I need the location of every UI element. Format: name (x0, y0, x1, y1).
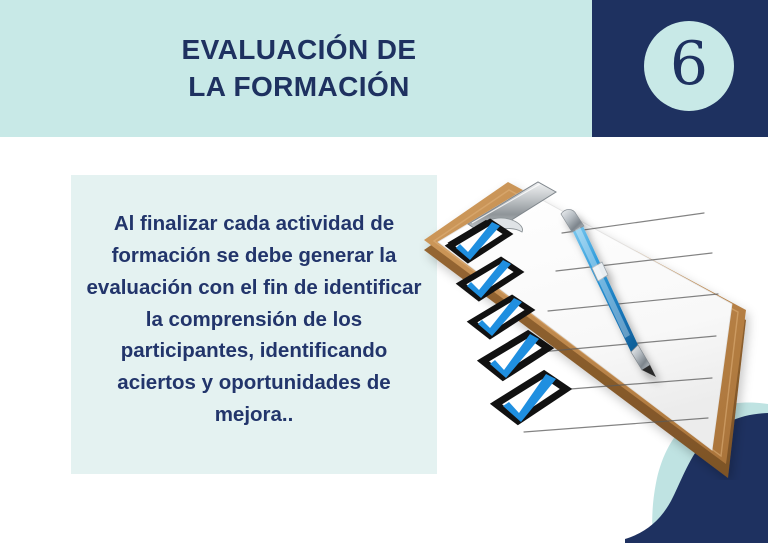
step-number-badge: 6 (644, 21, 734, 111)
slide-canvas: EVALUACIÓN DE LA FORMACIÓN 6 Al finaliza… (0, 0, 768, 543)
clipboard-illustration (416, 168, 768, 480)
checkbox-item (496, 374, 566, 422)
step-number-label: 6 (670, 34, 708, 94)
page-title: EVALUACIÓN DE LA FORMACIÓN (0, 0, 592, 137)
content-body-text: Al finalizar cada actividad de formación… (71, 175, 437, 474)
checkbox-item (483, 334, 548, 378)
clipboard-svg (416, 168, 768, 480)
checkbox-item (472, 298, 530, 336)
